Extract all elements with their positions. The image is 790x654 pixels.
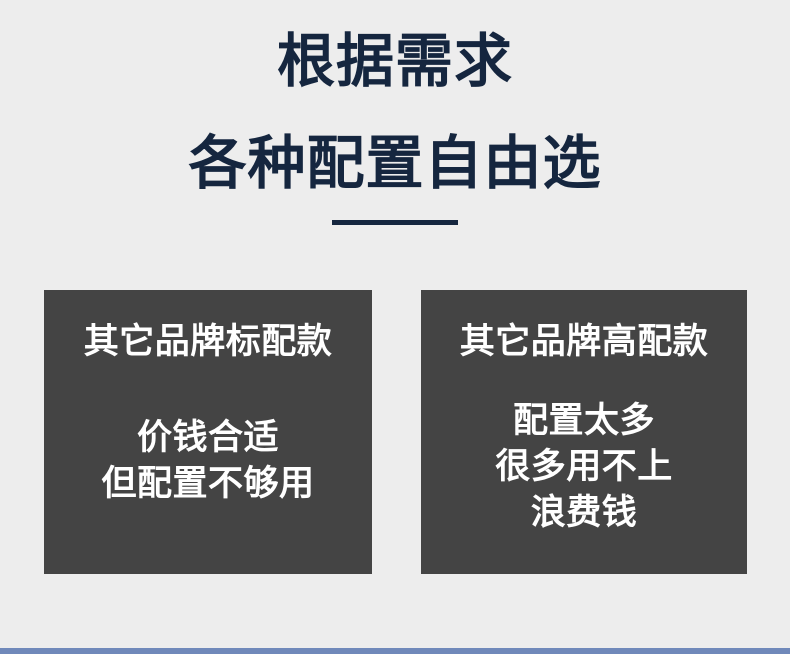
card-body-line: 价钱合适 xyxy=(44,415,372,461)
card-body-line: 配置太多 xyxy=(421,398,747,444)
headline-primary: 根据需求 xyxy=(0,27,790,97)
bottom-accent-band xyxy=(0,648,790,654)
promo-banner: 根据需求 各种配置自由选 其它品牌标配款 价钱合适 但配置不够用 其它品牌高配款… xyxy=(0,0,790,654)
comparison-cards-row: 其它品牌标配款 价钱合适 但配置不够用 其它品牌高配款 配置太多 很多用不上 浪… xyxy=(44,290,747,574)
card-body: 配置太多 很多用不上 浪费钱 xyxy=(421,398,747,536)
card-title: 其它品牌标配款 xyxy=(44,320,372,364)
heading-divider xyxy=(332,220,458,225)
card-title: 其它品牌高配款 xyxy=(421,320,747,364)
card-body-line: 但配置不够用 xyxy=(44,461,372,507)
card-body: 价钱合适 但配置不够用 xyxy=(44,415,372,507)
comparison-card-high-spec: 其它品牌高配款 配置太多 很多用不上 浪费钱 xyxy=(421,290,747,574)
card-body-line: 浪费钱 xyxy=(421,490,747,536)
card-body-line: 很多用不上 xyxy=(421,444,747,490)
headline-secondary: 各种配置自由选 xyxy=(0,129,790,199)
comparison-card-standard: 其它品牌标配款 价钱合适 但配置不够用 xyxy=(44,290,372,574)
